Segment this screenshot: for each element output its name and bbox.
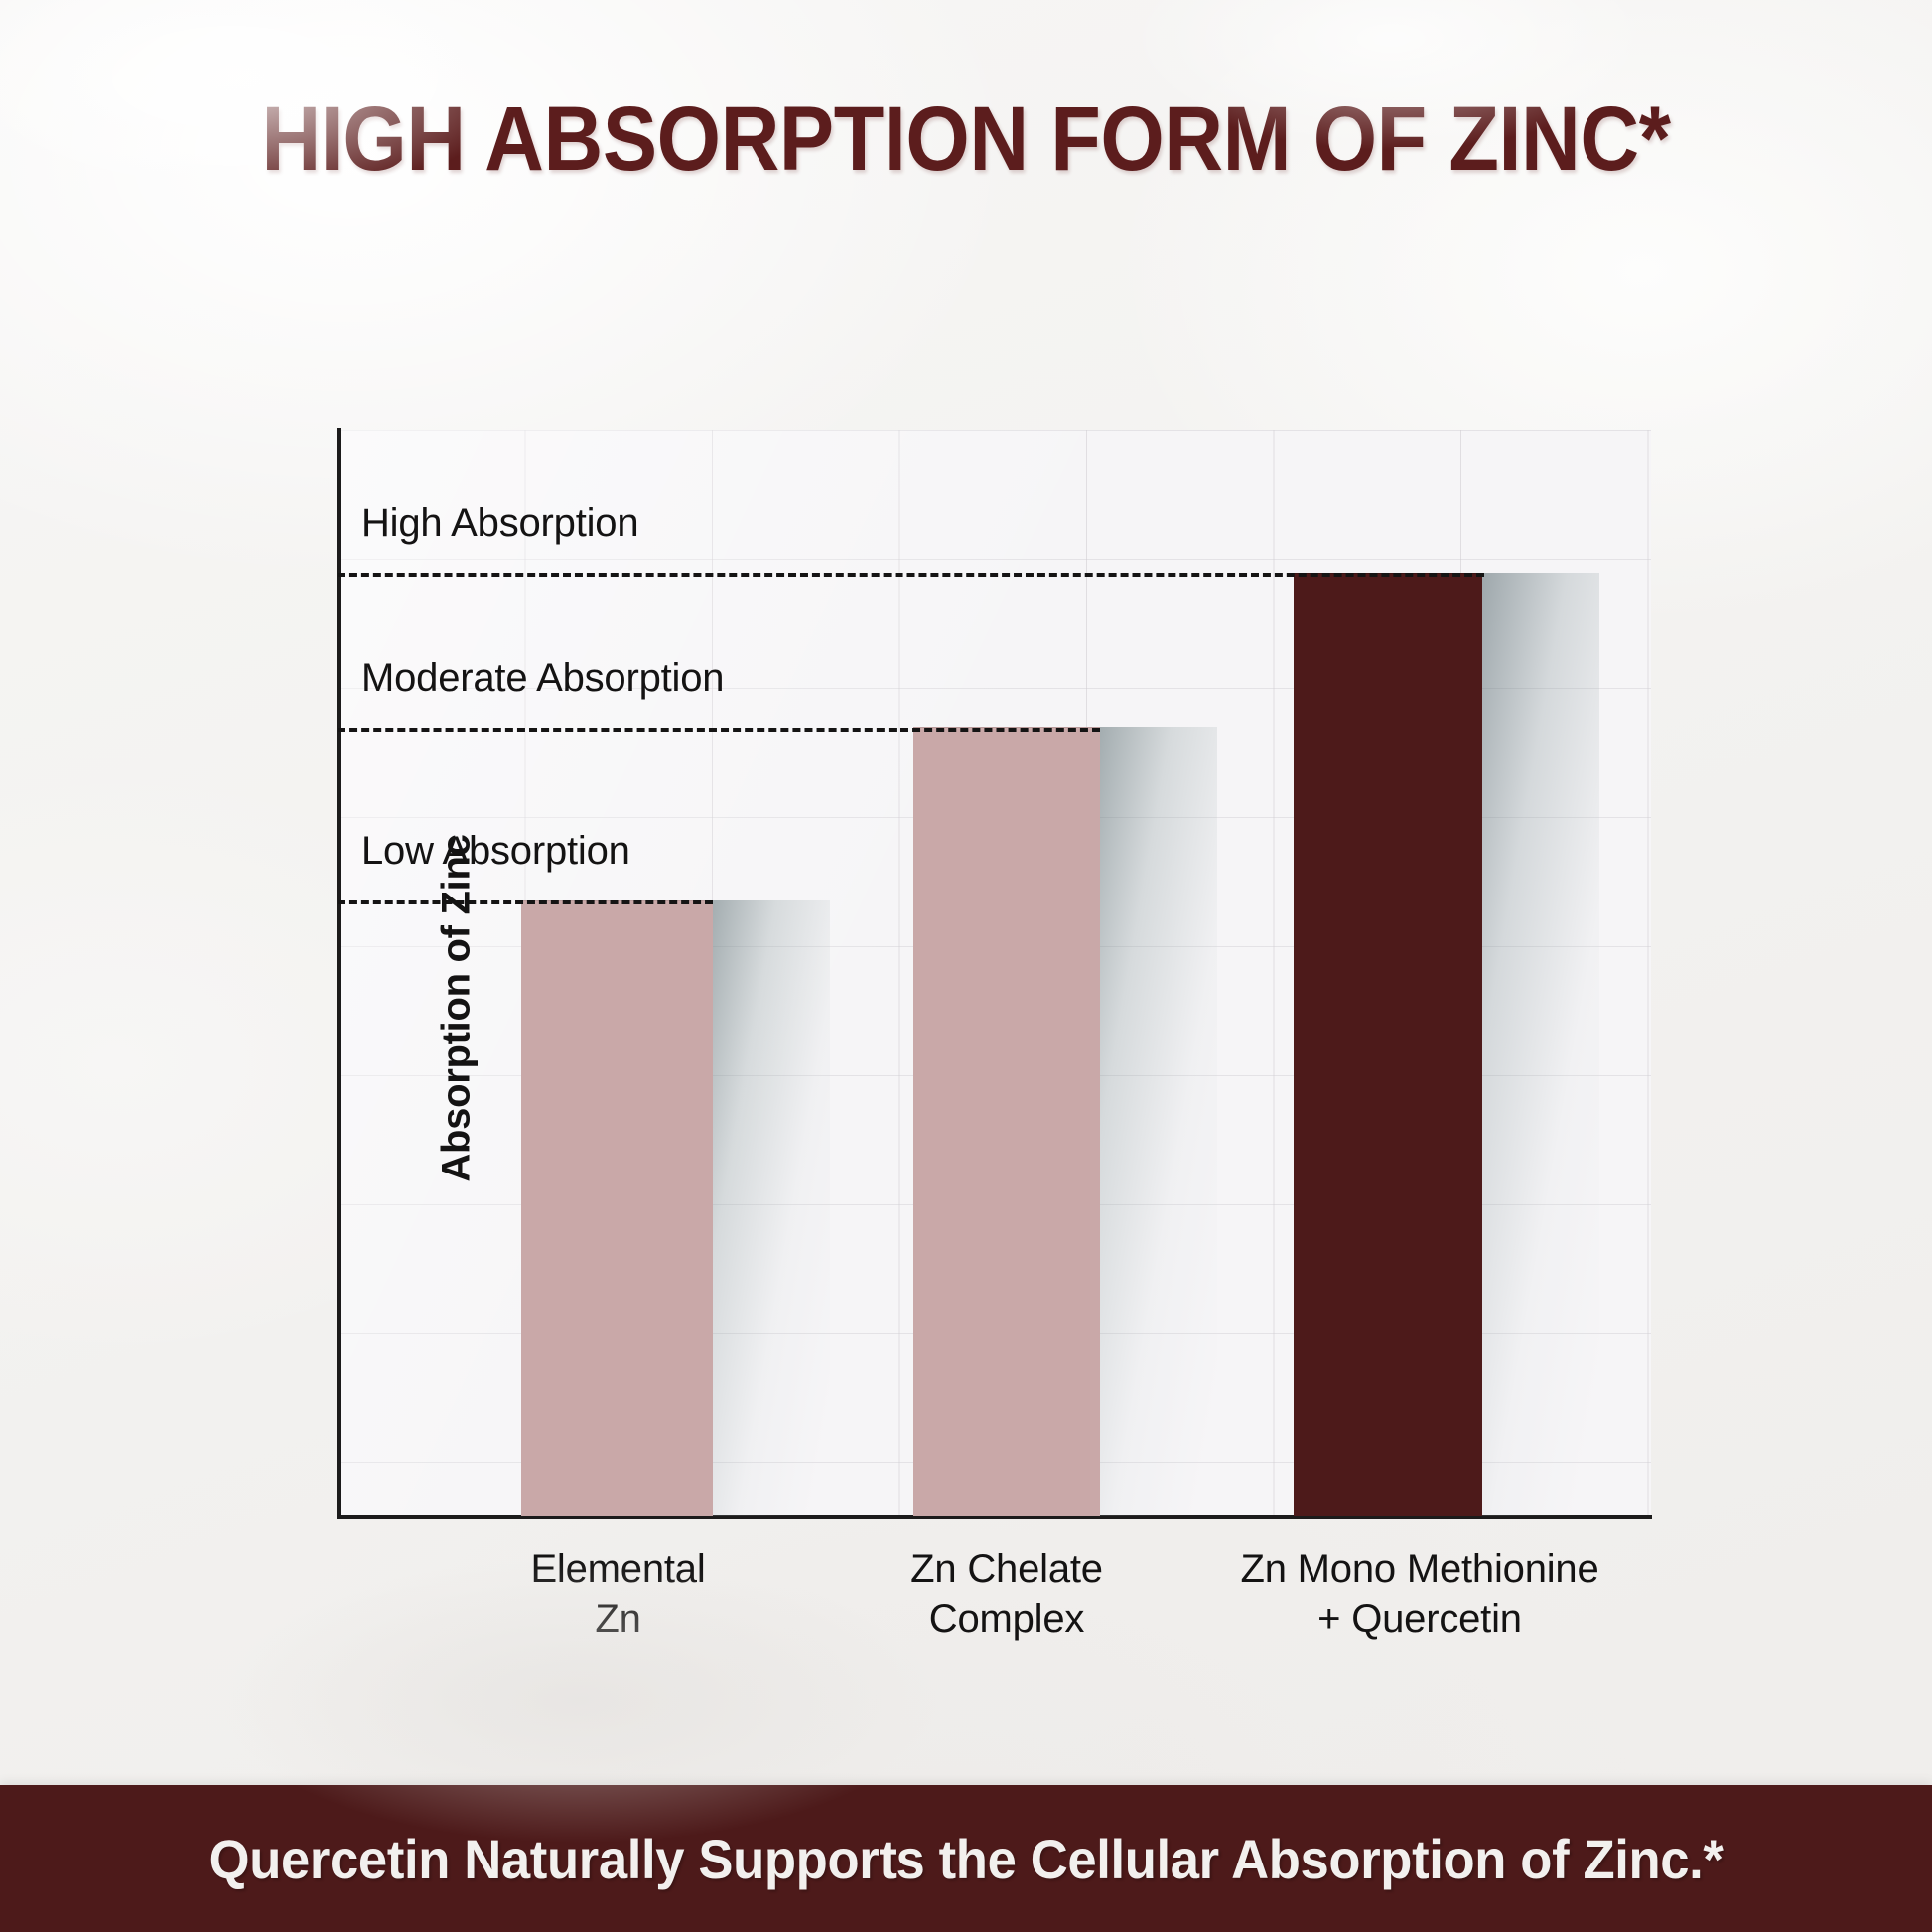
x-axis-label-elemental-zn: Elemental Zn: [477, 1544, 759, 1645]
threshold-label-moderate: Moderate Absorption: [361, 656, 724, 701]
x-label-line-1: Zn Mono Methionine: [1240, 1547, 1598, 1590]
banner-text: Quercetin Naturally Supports the Cellula…: [209, 1827, 1724, 1891]
bar-elemental-zn[interactable]: [521, 900, 713, 1516]
absorption-bar-chart: High Absorption Moderate Absorption Low …: [338, 430, 1651, 1516]
x-label-line-2: Complex: [862, 1594, 1152, 1645]
y-axis-title: Absorption of Zinc: [435, 751, 480, 1267]
bar-zn-mono-methionine-quercetin[interactable]: [1294, 573, 1482, 1516]
bottom-banner: Quercetin Naturally Supports the Cellula…: [0, 1785, 1932, 1932]
bar-body: [521, 900, 713, 1516]
threshold-line-low: [338, 900, 713, 904]
x-label-line-2: + Quercetin: [1211, 1594, 1628, 1645]
x-axis-label-zn-chelate-complex: Zn Chelate Complex: [862, 1544, 1152, 1645]
page-title: HIGH ABSORPTION FORM OF ZINC*: [96, 87, 1835, 192]
x-label-line-1: Elemental: [530, 1547, 705, 1590]
page-background: HIGH ABSORPTION FORM OF ZINC* High Absor…: [0, 0, 1932, 1932]
threshold-line-moderate: [338, 728, 1100, 732]
bar-body: [913, 727, 1100, 1516]
x-label-line-2: Zn: [477, 1594, 759, 1645]
x-axis-label-zn-mono-methionine-quercetin: Zn Mono Methionine + Quercetin: [1211, 1544, 1628, 1645]
bar-zn-chelate-complex[interactable]: [913, 727, 1100, 1516]
y-axis-line: [337, 428, 341, 1518]
threshold-label-high: High Absorption: [361, 501, 638, 546]
x-label-line-1: Zn Chelate: [910, 1547, 1103, 1590]
bar-body: [1294, 573, 1482, 1516]
threshold-line-high: [338, 573, 1484, 577]
x-axis-labels: Elemental Zn Zn Chelate Complex Zn Mono …: [338, 1544, 1651, 1673]
threshold-label-low: Low Absorption: [361, 829, 630, 874]
